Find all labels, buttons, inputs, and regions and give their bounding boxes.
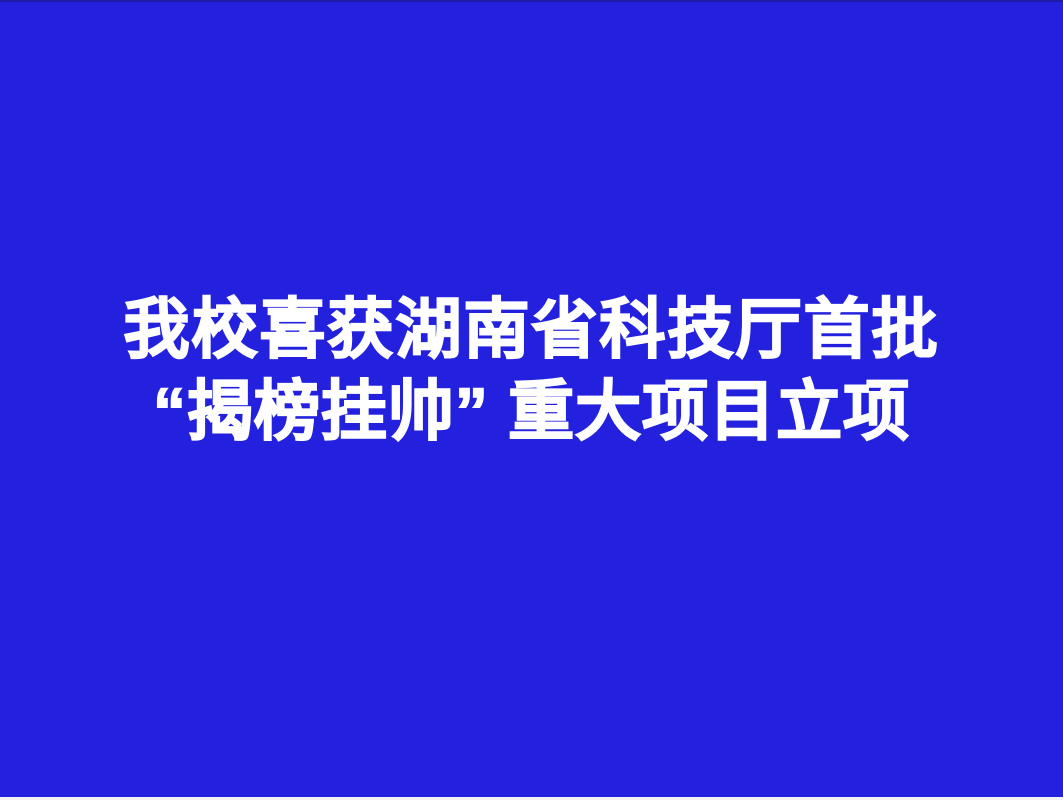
headline-line-1: 我校喜获湖南省科技厅首批: [0, 288, 1063, 370]
headline-line-2: “揭榜挂帅” 重大项目立项: [0, 370, 1063, 452]
headline-block: 我校喜获湖南省科技厅首批 “揭榜挂帅” 重大项目立项: [0, 288, 1063, 452]
top-edge-hairline: [0, 0, 1063, 2]
slide-canvas: 我校喜获湖南省科技厅首批 “揭榜挂帅” 重大项目立项: [0, 0, 1063, 800]
